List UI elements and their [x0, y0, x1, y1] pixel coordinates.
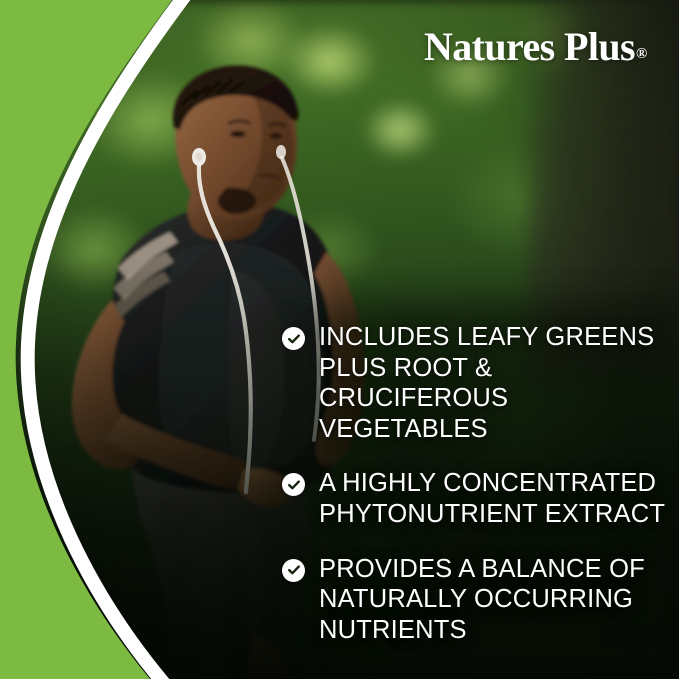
- brand-logo-text: Natures Plus: [424, 24, 635, 69]
- benefit-text: A HIGHLY CONCENTRATED PHYTONUTRIENT EXTR…: [319, 468, 665, 529]
- registered-trademark-icon: ®: [636, 46, 647, 62]
- check-circle-icon: [282, 473, 305, 496]
- brand-logo: Natures Plus®: [424, 27, 646, 67]
- check-circle-icon: [282, 327, 305, 350]
- benefit-item: PROVIDES A BALANCE OF NATURALLY OCCURRIN…: [282, 554, 672, 646]
- benefits-list: INCLUDES LEAFY GREENS PLUS ROOT & CRUCIF…: [282, 322, 672, 645]
- benefit-item: INCLUDES LEAFY GREENS PLUS ROOT & CRUCIF…: [282, 322, 672, 444]
- benefit-text: INCLUDES LEAFY GREENS PLUS ROOT & CRUCIF…: [319, 322, 672, 444]
- benefit-text: PROVIDES A BALANCE OF NATURALLY OCCURRIN…: [319, 554, 645, 646]
- benefit-item: A HIGHLY CONCENTRATED PHYTONUTRIENT EXTR…: [282, 468, 672, 529]
- check-circle-icon: [282, 559, 305, 582]
- product-banner: Natures Plus® INCLUDES LEAFY GREENS PLUS…: [0, 0, 679, 679]
